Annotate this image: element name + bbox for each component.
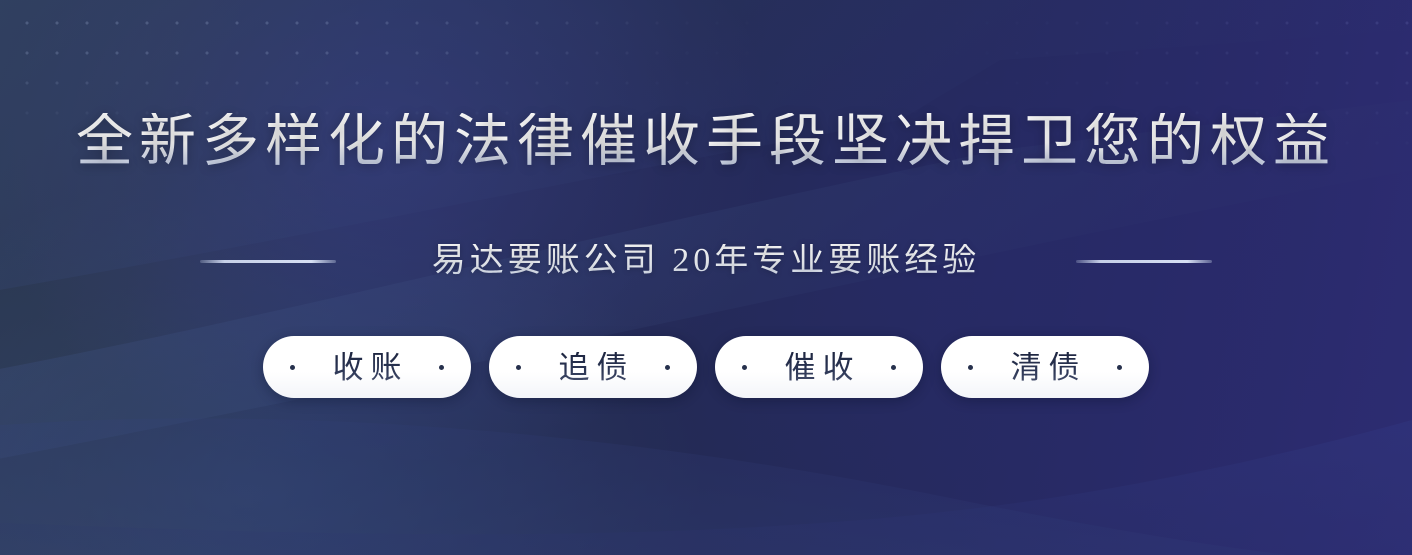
service-pill-label: 收账 [326,352,409,383]
divider-line-left [200,260,336,263]
service-pill-qingzhai[interactable]: 清债 [941,336,1149,398]
bullet-dot-icon [439,365,444,370]
banner-content: 全新多样化的法律催收手段坚决捍卫您的权益 易达要账公司 20年专业要账经验 收账… [0,0,1412,555]
banner-headline: 全新多样化的法律催收手段坚决捍卫您的权益 [76,113,1336,170]
service-pill-cuishou[interactable]: 催收 [715,336,923,398]
bullet-dot-icon [516,365,521,370]
promo-banner: 全新多样化的法律催收手段坚决捍卫您的权益 易达要账公司 20年专业要账经验 收账… [0,0,1412,555]
service-pill-label: 清债 [1004,352,1087,383]
bullet-dot-icon [968,365,973,370]
service-pill-zhuizhai[interactable]: 追债 [489,336,697,398]
service-pill-label: 催收 [778,352,861,383]
divider-line-right [1076,260,1212,263]
service-pill-label: 追债 [552,352,635,383]
service-pill-row: 收账 追债 催收 清债 [263,336,1149,398]
bullet-dot-icon [891,365,896,370]
bullet-dot-icon [665,365,670,370]
service-pill-shouzhang[interactable]: 收账 [263,336,471,398]
bullet-dot-icon [290,365,295,370]
subtitle-row: 易达要账公司 20年专业要账经验 [0,244,1412,278]
bullet-dot-icon [1117,365,1122,370]
bullet-dot-icon [742,365,747,370]
banner-subtitle: 易达要账公司 20年专业要账经验 [432,244,981,278]
